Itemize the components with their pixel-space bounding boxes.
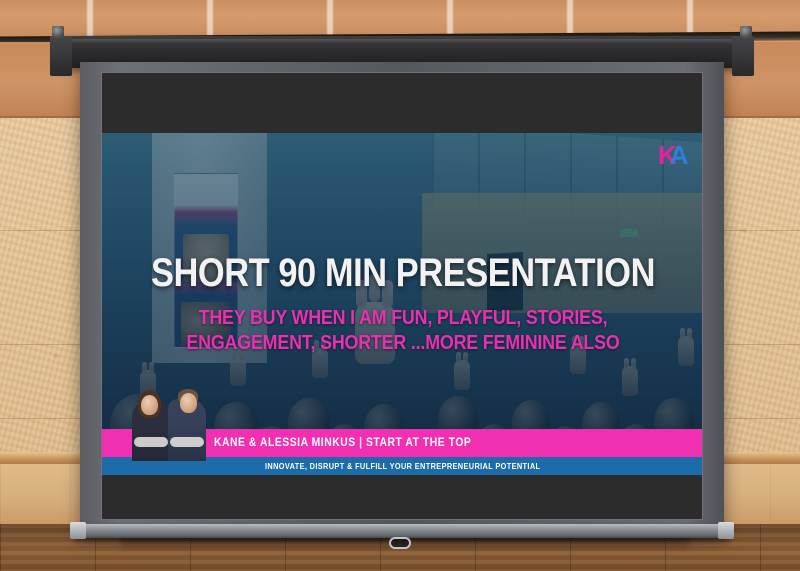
presenter-man-arms <box>170 437 204 447</box>
projector-screen-frame: KA SHORT 90 MIN PRESENTATION THEY BUY WH… <box>80 62 724 532</box>
slide-subtitle: THEY BUY WHEN I AM FUN, PLAYFUL, STORIES… <box>141 305 665 355</box>
weight-bar-end-right <box>718 522 734 539</box>
screen-weight-bar[interactable] <box>74 524 730 538</box>
presenter-man-head <box>180 393 197 413</box>
ka-brand-logo: KA <box>658 141 694 169</box>
slide-footer-dark-band <box>102 475 703 489</box>
projector-screen-surface[interactable]: KA SHORT 90 MIN PRESENTATION THEY BUY WH… <box>101 72 703 520</box>
presenter-woman-head <box>141 395 158 415</box>
projected-slide: KA SHORT 90 MIN PRESENTATION THEY BUY WH… <box>102 133 703 489</box>
housing-end-cap-right <box>732 36 754 76</box>
pull-ring-handle[interactable] <box>389 537 411 549</box>
logo-letter-a: A <box>670 140 686 170</box>
slide-footer-primary-text: KANE & ALESSIA MINKUS | START AT THE TOP <box>214 437 471 449</box>
slide-subtitle-line-1: THEY BUY WHEN I AM FUN, PLAYFUL, STORIES… <box>141 305 665 330</box>
mount-bracket-left-icon <box>52 26 64 38</box>
slide-title: SHORT 90 MIN PRESENTATION <box>144 251 662 296</box>
presenters-duo-photo <box>130 389 208 461</box>
slide-subtitle-line-2: ENGAGEMENT, SHORTER ...MORE FEMININE ALS… <box>141 330 665 355</box>
room-scene: KA SHORT 90 MIN PRESENTATION THEY BUY WH… <box>0 0 800 571</box>
housing-end-cap-left <box>50 36 72 76</box>
presenter-woman-arms <box>134 437 168 447</box>
mount-bracket-right-icon <box>740 26 752 38</box>
weight-bar-end-left <box>70 522 86 539</box>
housing-highlight <box>60 39 744 44</box>
slide-footer-tagline-text: INNOVATE, DISRUPT & FULFILL YOUR ENTREPR… <box>265 462 540 471</box>
